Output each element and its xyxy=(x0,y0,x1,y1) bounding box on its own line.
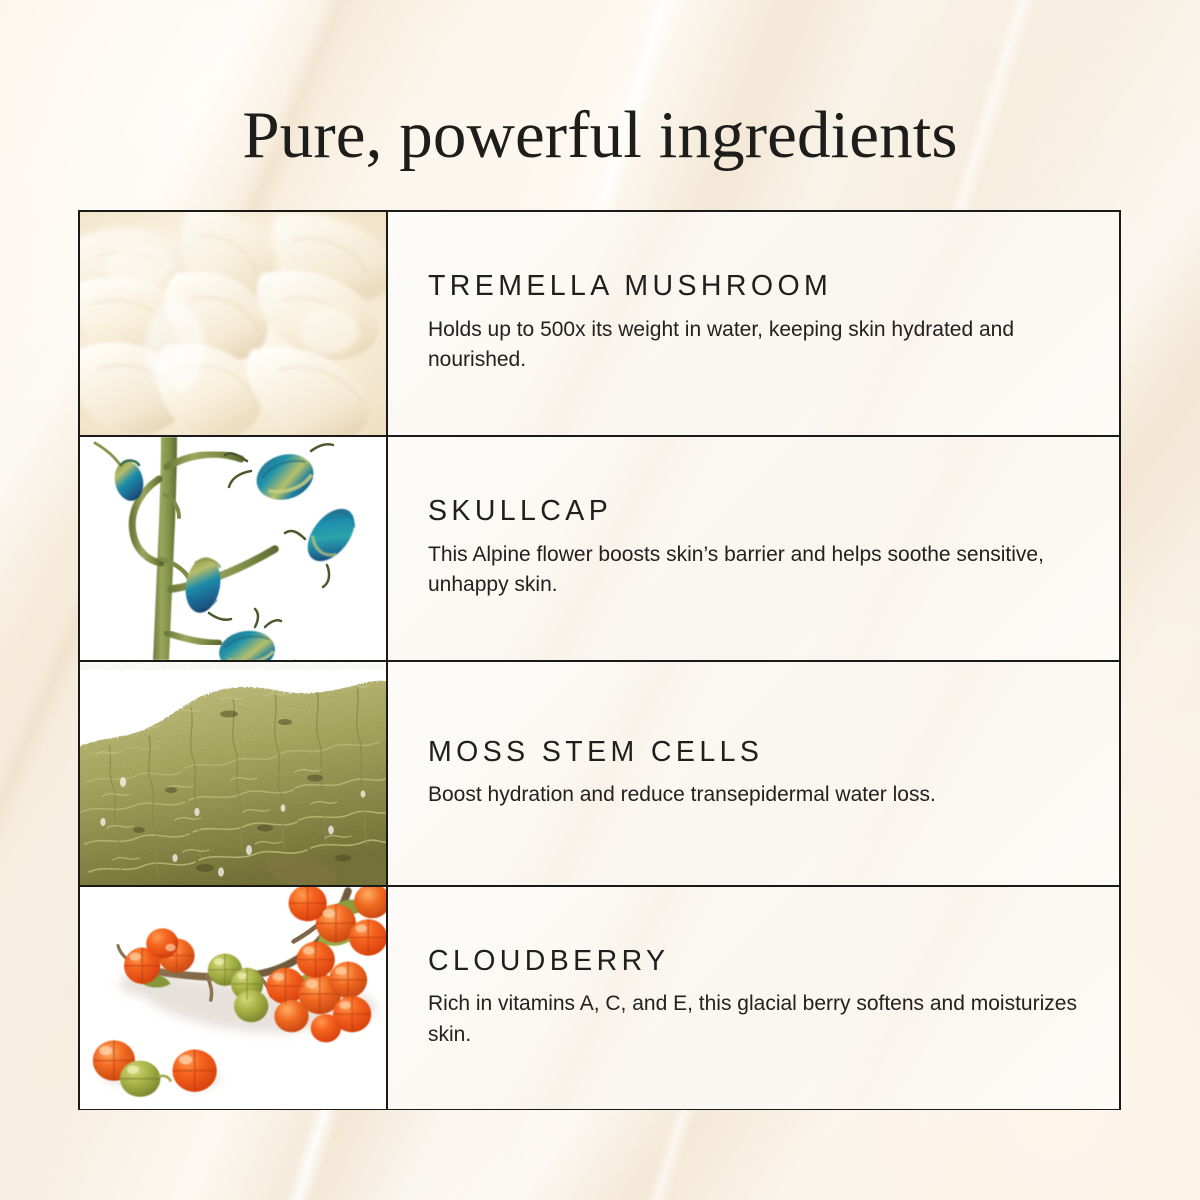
ingredient-copy-cloudberry: CLOUDBERRY Rich in vitamins A, C, and E,… xyxy=(388,887,1119,1109)
tremella-mushroom-photo xyxy=(80,212,388,435)
ingredient-copy-tremella-mushroom: TREMELLA MUSHROOM Holds up to 500x its w… xyxy=(388,212,1119,435)
ingredient-description: Rich in vitamins A, C, and E, this glaci… xyxy=(428,989,1085,1050)
ingredient-name: SKULLCAP xyxy=(428,496,1085,527)
ingredient-description: This Alpine flower boosts skin’s barrier… xyxy=(428,540,1085,601)
ingredient-row-moss-stem-cells: MOSS STEM CELLS Boost hydration and redu… xyxy=(80,662,1119,887)
page-title: Pure, powerful ingredients xyxy=(0,97,1200,174)
ingredient-description: Holds up to 500x its weight in water, ke… xyxy=(428,315,1085,376)
ingredient-row-skullcap: SKULLCAP This Alpine flower boosts skin’… xyxy=(80,437,1119,662)
ingredient-row-tremella-mushroom: TREMELLA MUSHROOM Holds up to 500x its w… xyxy=(80,212,1119,437)
moss-stem-cells-photo xyxy=(80,662,388,885)
ingredient-description: Boost hydration and reduce transepiderma… xyxy=(428,780,1085,810)
ingredient-name: CLOUDBERRY xyxy=(428,946,1085,977)
ingredient-copy-skullcap: SKULLCAP This Alpine flower boosts skin’… xyxy=(388,437,1119,660)
cloudberry-photo xyxy=(80,887,388,1109)
ingredient-row-cloudberry: CLOUDBERRY Rich in vitamins A, C, and E,… xyxy=(80,887,1119,1109)
ingredient-name: TREMELLA MUSHROOM xyxy=(428,271,1085,302)
ingredient-name: MOSS STEM CELLS xyxy=(428,737,1085,768)
ingredients-table: TREMELLA MUSHROOM Holds up to 500x its w… xyxy=(78,210,1121,1110)
skullcap-flower-photo xyxy=(80,437,388,660)
ingredient-copy-moss-stem-cells: MOSS STEM CELLS Boost hydration and redu… xyxy=(388,662,1119,885)
